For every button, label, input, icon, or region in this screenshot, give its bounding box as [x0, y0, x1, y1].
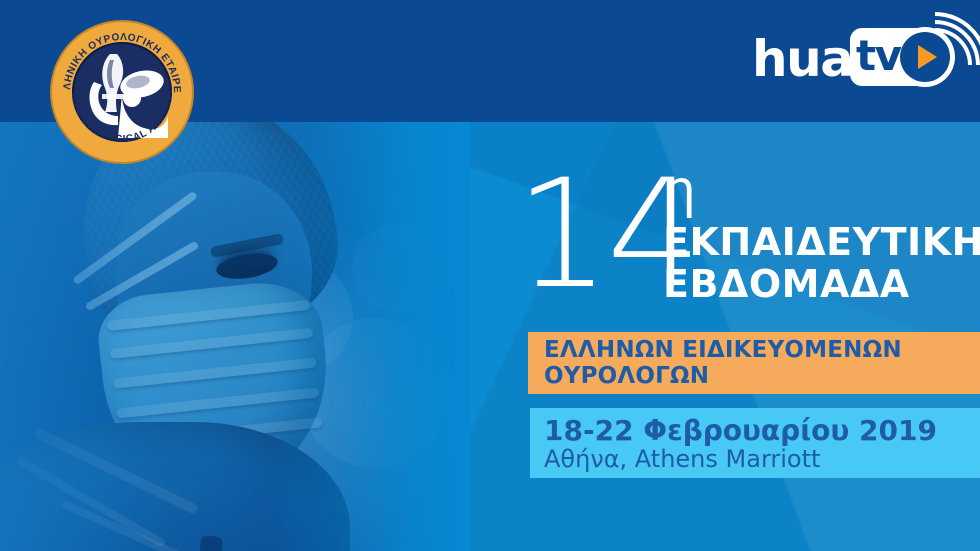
surgeon-in-mask-photo: [0, 106, 470, 551]
logo-ring-text: ΕΛΛΗΝΙΚΗ ΟΥΡΟΛΟΓΙΚΗ ΕΤΑΙΡΕΙΑ HELLENIC UR…: [52, 22, 192, 162]
subtitle-line-2: ΟΥΡΟΛΟΓΩΝ: [544, 364, 709, 389]
play-triangle-icon: [918, 45, 937, 69]
title-line-1: ΕΚΠΑΙΔΕΥΤΙΚΗ: [663, 222, 980, 262]
huatv-tv-text: tv: [856, 34, 900, 78]
subtitle-band: ΕΛΛΗΝΩΝ ΕΙΔΙΚΕΥΟΜΕΝΩΝ ΟΥΡΟΛΟΓΩΝ: [528, 332, 980, 394]
huatv-logo[interactable]: hua tv: [752, 24, 952, 98]
huatv-wordmark: hua: [752, 30, 852, 88]
event-dates: 18-22 Φεβρουαρίου 2019: [544, 415, 937, 447]
photo-left-wash: [0, 106, 170, 551]
logo-ring-text-greek: ΕΛΛΗΝΙΚΗ ΟΥΡΟΛΟΓΙΚΗ ΕΤΑΙΡΕΙΑ: [52, 22, 182, 94]
subtitle-line-1: ΕΛΛΗΝΩΝ ΕΙΔΙΚΕΥΟΜΕΝΩΝ: [544, 338, 902, 363]
title-line-2: ΕΒΔΟΜΑΔΑ: [663, 264, 910, 304]
hellenic-urological-association-logo[interactable]: ΕΛΛΗΝΙΚΗ ΟΥΡΟΛΟΓΙΚΗ ΕΤΑΙΡΕΙΑ HELLENIC UR…: [52, 22, 192, 126]
event-venue: Αθήνα, Athens Marriott: [544, 446, 820, 472]
conference-poster: ΕΛΛΗΝΙΚΗ ΟΥΡΟΛΟΓΙΚΗ ΕΤΑΙΡΕΙΑ HELLENIC UR…: [0, 0, 980, 551]
details-band: 18-22 Φεβρουαρίου 2019 Αθήνα, Athens Mar…: [530, 408, 980, 478]
photo-right-fade: [270, 106, 470, 551]
edition-ordinal-suffix: η: [663, 164, 696, 216]
